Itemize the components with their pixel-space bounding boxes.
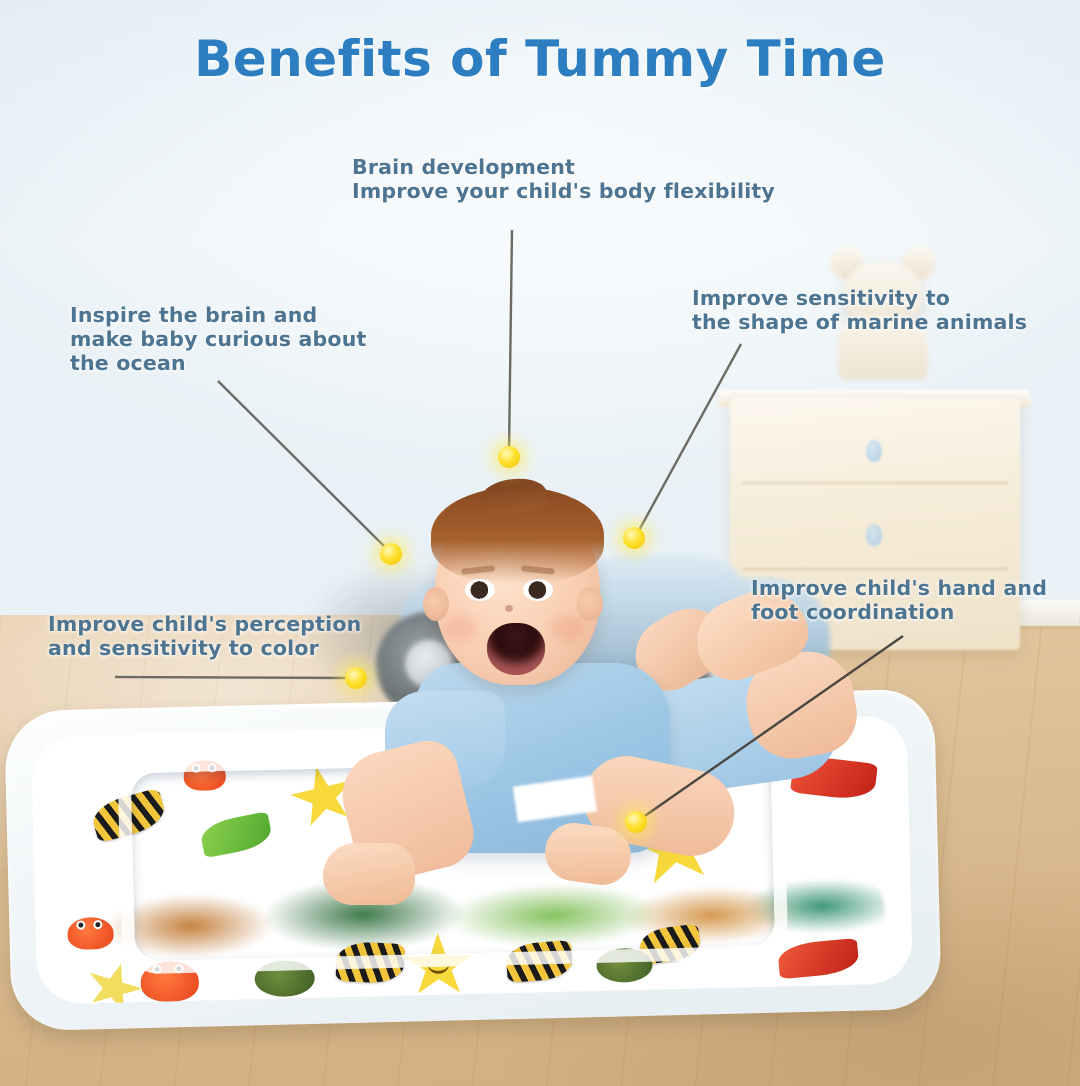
callout-marine-shapes: Improve sensitivity to the shape of mari… [692,286,1027,334]
baby-ear [423,587,449,621]
callout-inspire-brain: Inspire the brain and make baby curious … [70,303,367,376]
callout-hand-foot-coordination: Improve child's hand and foot coordinati… [751,576,1047,624]
callout-brain-development: Brain development Improve your child's b… [352,155,775,203]
baby-cheek [551,615,585,641]
drawer-knob [866,440,882,462]
marker-dot-color-perception [345,667,367,689]
baby-nose [505,605,513,612]
callout-color-perception: Improve child's perception and sensitivi… [48,612,361,660]
page-title: Benefits of Tummy Time [0,30,1080,88]
baby-eye [465,579,495,601]
crab-icon [67,917,114,950]
marker-dot-brain-development [498,446,520,468]
marker-dot-inspire-brain [380,543,402,565]
baby-open-mouth [487,623,545,675]
baby-subject [395,495,865,915]
drawer-knob [866,524,882,546]
baby-eye [523,579,553,601]
baby-cheek [443,615,477,641]
marker-dot-marine-shapes [623,527,645,549]
tummy-time-infographic: Benefits of Tummy Time Brain development… [0,0,1080,1086]
baby-hand [323,843,415,905]
nightstand-drawer-divider [742,482,1008,484]
baby-ear [577,587,603,621]
marker-dot-hand-foot-coordination [625,811,647,833]
